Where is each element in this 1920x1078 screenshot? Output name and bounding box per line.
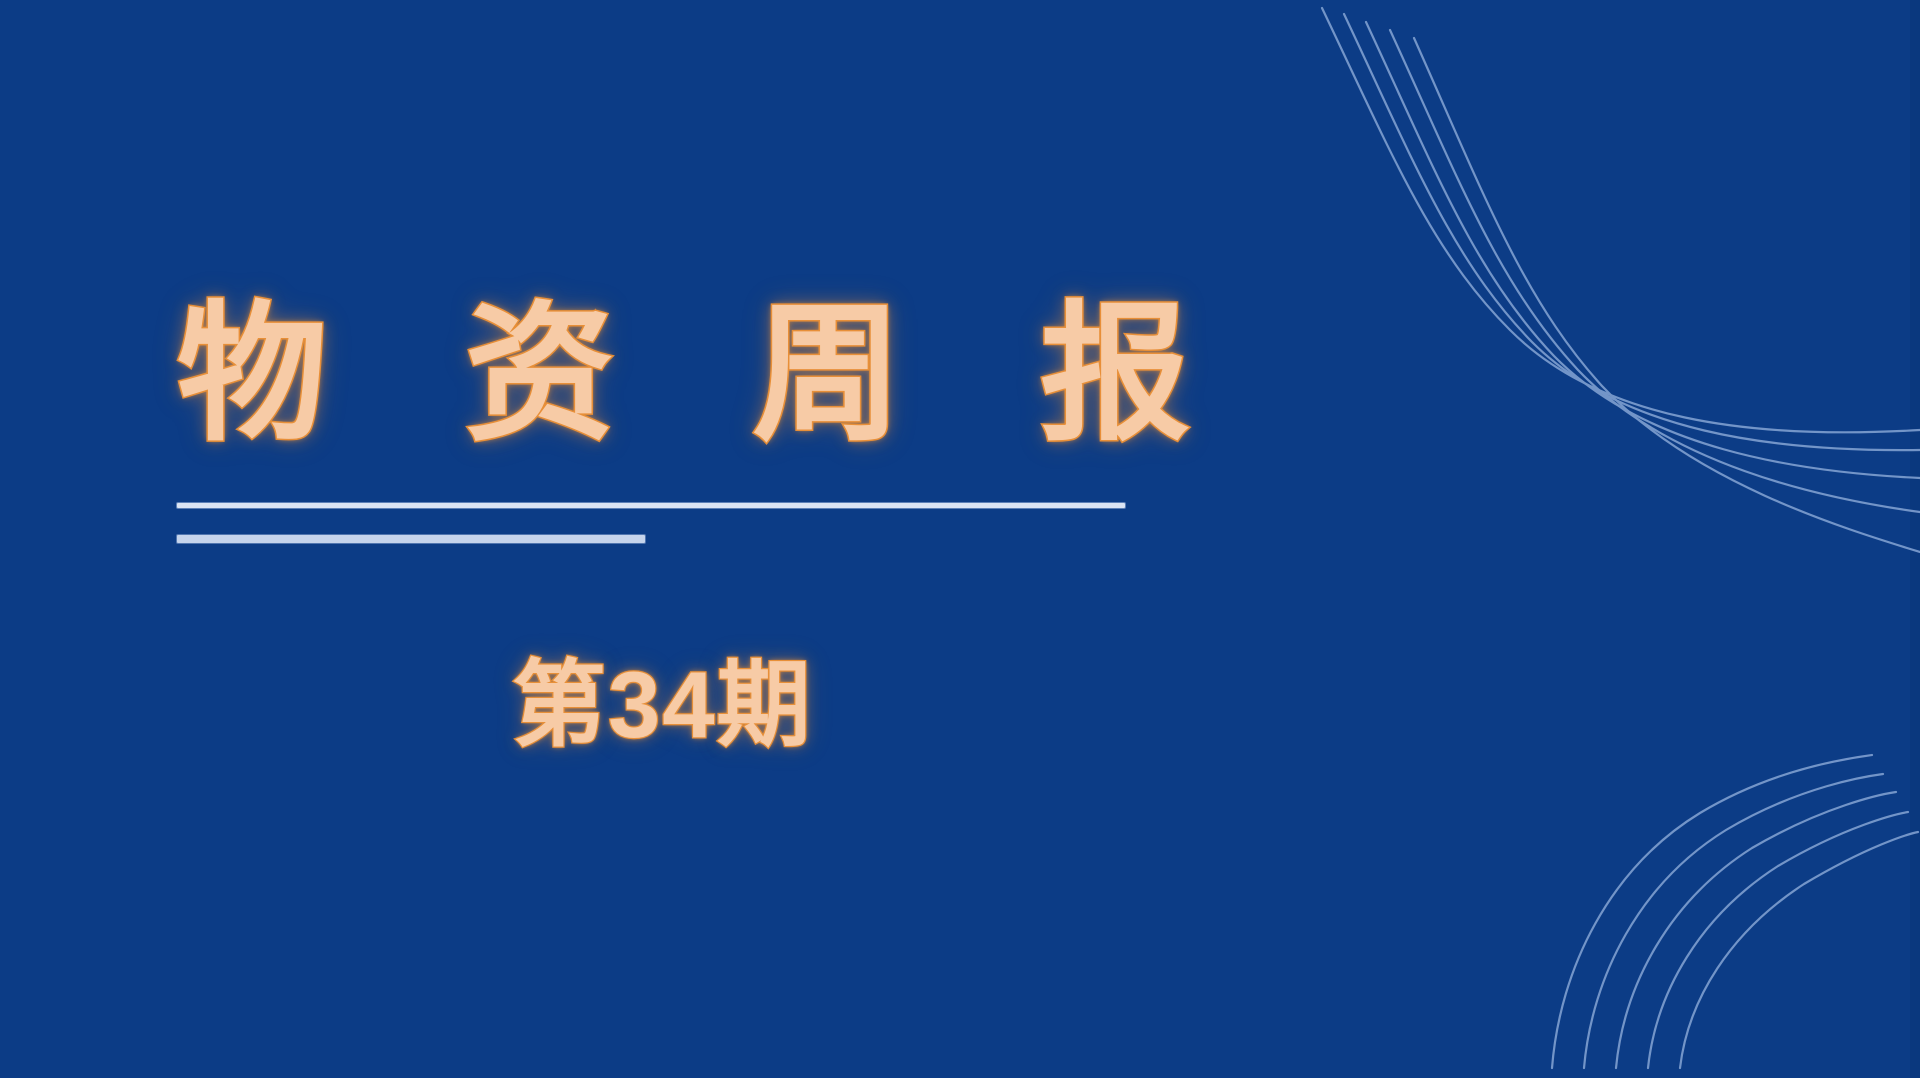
title-block: 物 资 周 报 [177, 290, 1177, 458]
divider-rule-short [177, 535, 645, 543]
page-title: 物 资 周 报 [177, 290, 1177, 458]
title-dividers [177, 503, 1125, 543]
right-edge-band [1910, 0, 1920, 1078]
issue-label: 第34期 [512, 650, 813, 761]
divider-rule-long [177, 503, 1125, 508]
ribbon-curves-bottom-right-icon [1500, 718, 1920, 1078]
cover-slide: 物 资 周 报 第34期 [0, 0, 1920, 1078]
ribbon-curves-top-right-icon [1280, 0, 1920, 600]
